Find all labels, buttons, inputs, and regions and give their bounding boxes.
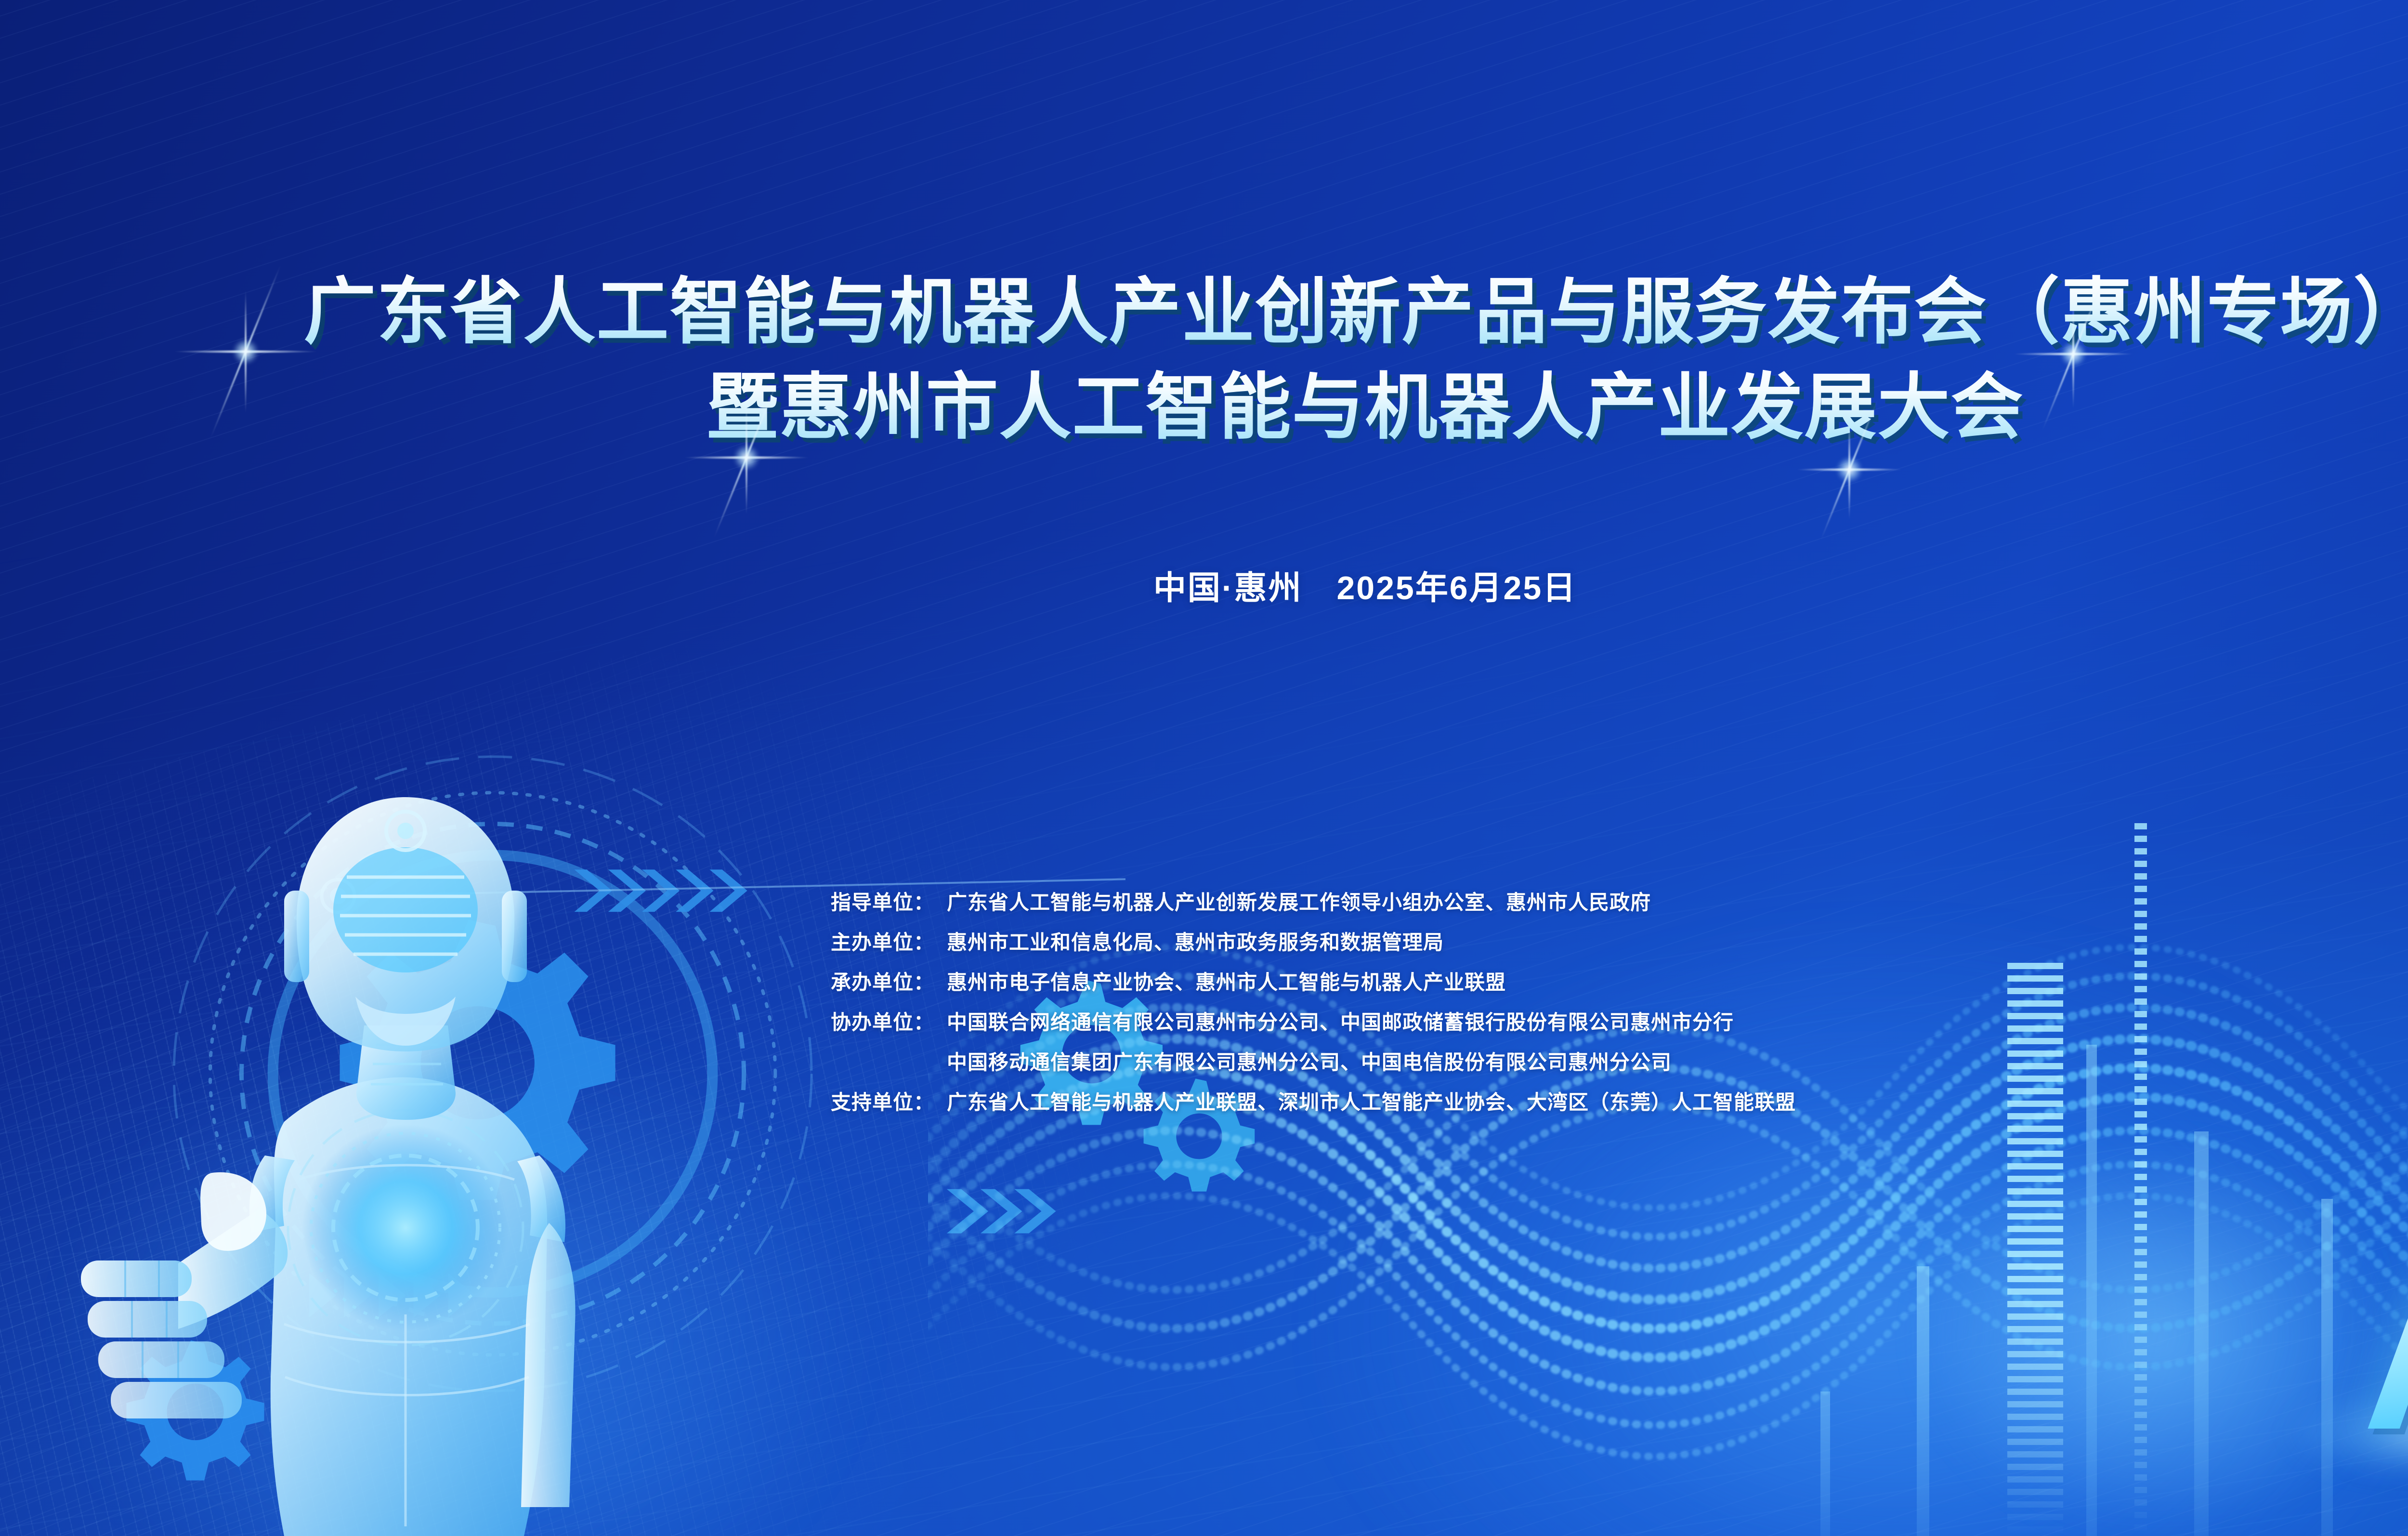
organizer-value: 中国移动通信集团广东有限公司惠州分公司、中国电信股份有限公司惠州分公司: [947, 1046, 1672, 1076]
robot-ear-left: [284, 891, 309, 982]
organizer-label: 主办单位：: [790, 926, 934, 956]
organizer-label: 支持单位：: [790, 1086, 934, 1116]
organizer-row: 协办单位： 中国联合网络通信有限公司惠州市分公司、中国邮政储蓄银行股份有限公司惠…: [790, 1006, 1796, 1036]
organizer-row: 指导单位： 广东省人工智能与机器人产业创新发展工作领导小组办公室、惠州市人民政府: [790, 886, 1796, 916]
organizer-row: 支持单位： 广东省人工智能与机器人产业联盟、深圳市人工智能产业协会、大湾区（东莞…: [790, 1086, 1796, 1116]
event-backdrop: 广东省人工智能与机器人产业创新产品与服务发布会（惠州专场） 暨惠州市人工智能与机…: [0, 0, 2408, 1536]
organizer-value: 中国联合网络通信有限公司惠州市分公司、中国邮政储蓄银行股份有限公司惠州市分行: [947, 1006, 1734, 1036]
robot-ear-right: [502, 891, 527, 982]
organizer-value: 广东省人工智能与机器人产业联盟、深圳市人工智能产业协会、大湾区（东莞）人工智能联…: [947, 1086, 1796, 1116]
organizer-label: 指导单位：: [790, 886, 934, 916]
location-date: 中国·惠州 2025年6月25日: [0, 561, 2408, 609]
organizer-row: 主办单位： 惠州市工业和信息化局、惠州市政务服务和数据管理局: [790, 926, 1796, 956]
organizer-row-continuation: 协办单位： 中国移动通信集团广东有限公司惠州分公司、中国电信股份有限公司惠州分公…: [790, 1046, 1796, 1076]
organizer-value: 广东省人工智能与机器人产业创新发展工作领导小组办公室、惠州市人民政府: [947, 886, 1651, 916]
organizer-label: 承办单位：: [790, 966, 934, 996]
event-title-line-2: 暨惠州市人工智能与机器人产业发展大会: [0, 365, 2408, 449]
organizer-value: 惠州市工业和信息化局、惠州市政务服务和数据管理局: [947, 926, 1444, 956]
organizer-label: 协办单位：: [790, 1006, 934, 1036]
ai-logotype: AI: [2362, 1260, 2408, 1445]
event-title-line-1: 广东省人工智能与机器人产业创新产品与服务发布会（惠州专场）: [0, 270, 2408, 354]
organizer-row: 承办单位： 惠州市电子信息产业协会、惠州市人工智能与机器人产业联盟: [790, 966, 1796, 996]
organizer-value: 惠州市电子信息产业协会、惠州市人工智能与机器人产业联盟: [947, 966, 1506, 996]
organizer-list: 指导单位： 广东省人工智能与机器人产业创新发展工作领导小组办公室、惠州市人民政府…: [790, 886, 1796, 1126]
title-block: 广东省人工智能与机器人产业创新产品与服务发布会（惠州专场） 暨惠州市人工智能与机…: [0, 270, 2408, 449]
robot-illustration: [58, 756, 742, 1536]
